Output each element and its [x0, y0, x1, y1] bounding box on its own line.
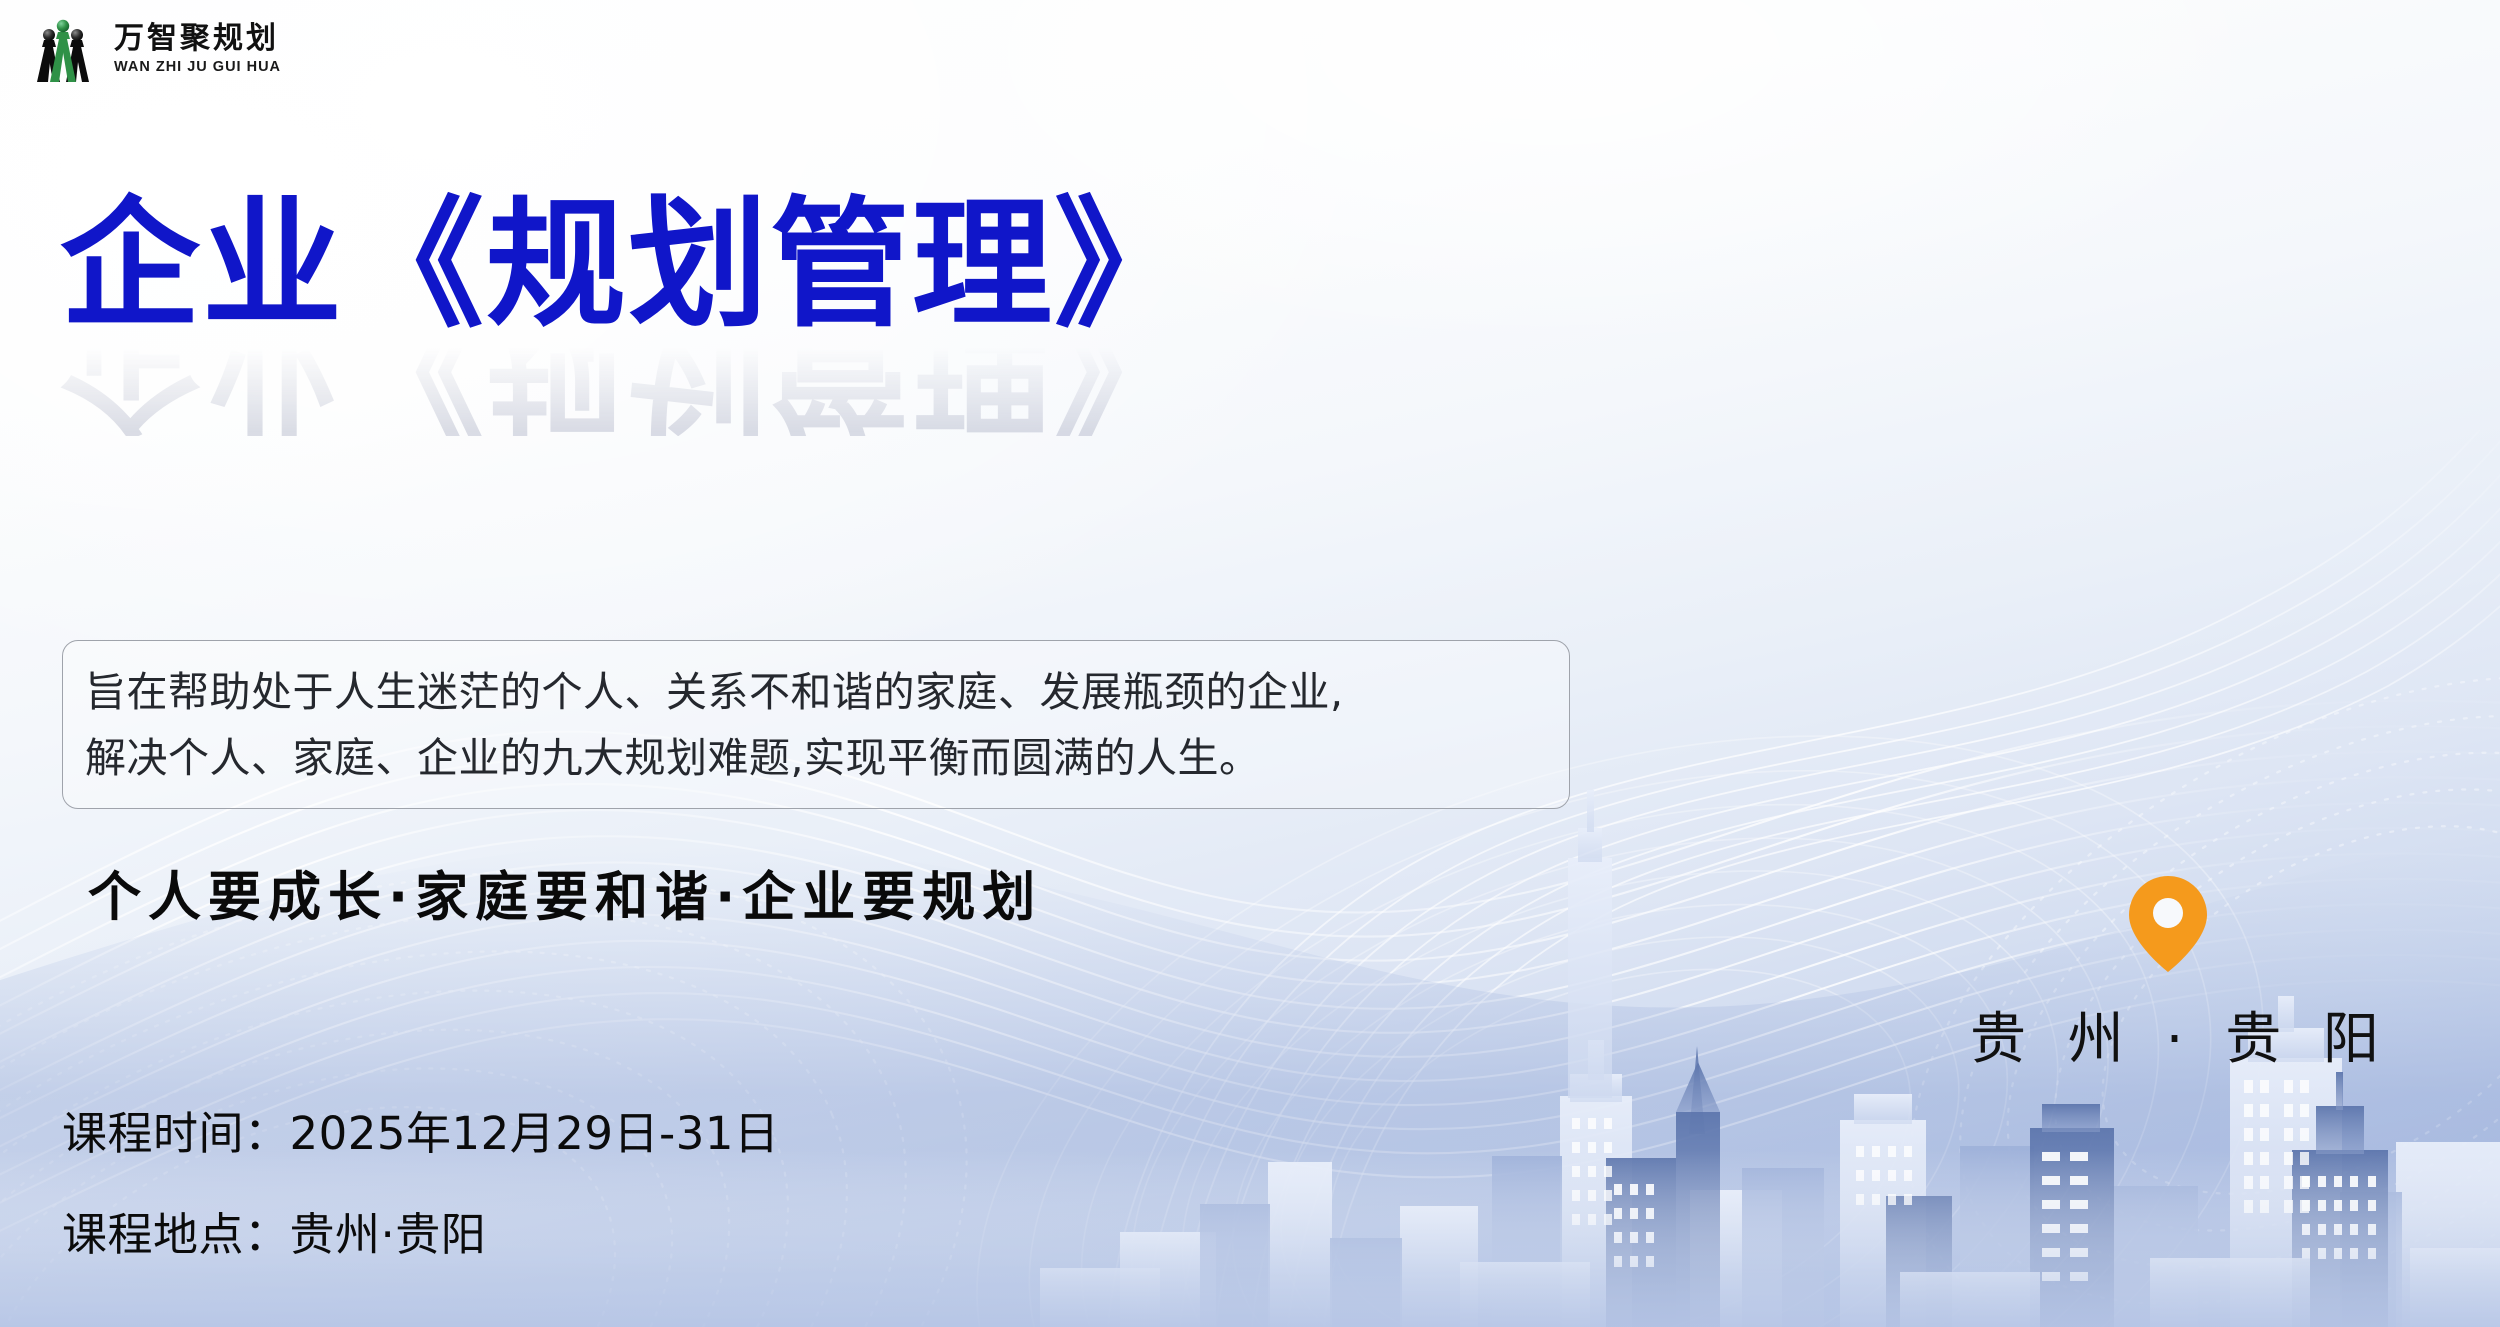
- location-block: 贵 州 · 贵 阳: [1958, 872, 2378, 1075]
- three-people-logo-icon: [26, 14, 100, 84]
- description-line-2: 解决个人、家庭、企业的九大规划难题,实现平衡而圆满的人生。: [85, 725, 1547, 791]
- page-title-reflection: 企业《规划管理》: [60, 340, 1196, 436]
- course-place: 课程地点：贵州·贵阳: [62, 1198, 780, 1263]
- course-time: 课程时间：2025年12月29日-31日: [62, 1097, 780, 1162]
- brand-logo[interactable]: 万智聚规划 WAN ZHI JU GUI HUA: [26, 14, 281, 84]
- brand-logo-text: 万智聚规划 WAN ZHI JU GUI HUA: [114, 24, 281, 75]
- tagline: 个人要成长·家庭要和谐·企业要规划: [88, 855, 1042, 931]
- page-title: 企业《规划管理》: [60, 196, 1196, 336]
- hero-title-block: 企业《规划管理》 企业《规划管理》: [60, 196, 1196, 436]
- description-box: 旨在帮助处于人生迷茫的个人、关系不和谐的家庭、发展瓶颈的企业, 解决个人、家庭、…: [62, 640, 1570, 809]
- description-line-1: 旨在帮助处于人生迷茫的个人、关系不和谐的家庭、发展瓶颈的企业,: [85, 659, 1547, 725]
- location-city-name: 贵 州 · 贵 阳: [1958, 994, 2378, 1075]
- brand-name-cn: 万智聚规划: [114, 24, 281, 54]
- course-info-block: 课程时间：2025年12月29日-31日 课程地点：贵州·贵阳: [62, 1097, 780, 1263]
- poster-canvas: 万智聚规划 WAN ZHI JU GUI HUA 企业《规划管理》 企业《规划管…: [0, 0, 2500, 1327]
- map-pin-icon: [2124, 872, 2212, 976]
- brand-name-en: WAN ZHI JU GUI HUA: [114, 60, 281, 75]
